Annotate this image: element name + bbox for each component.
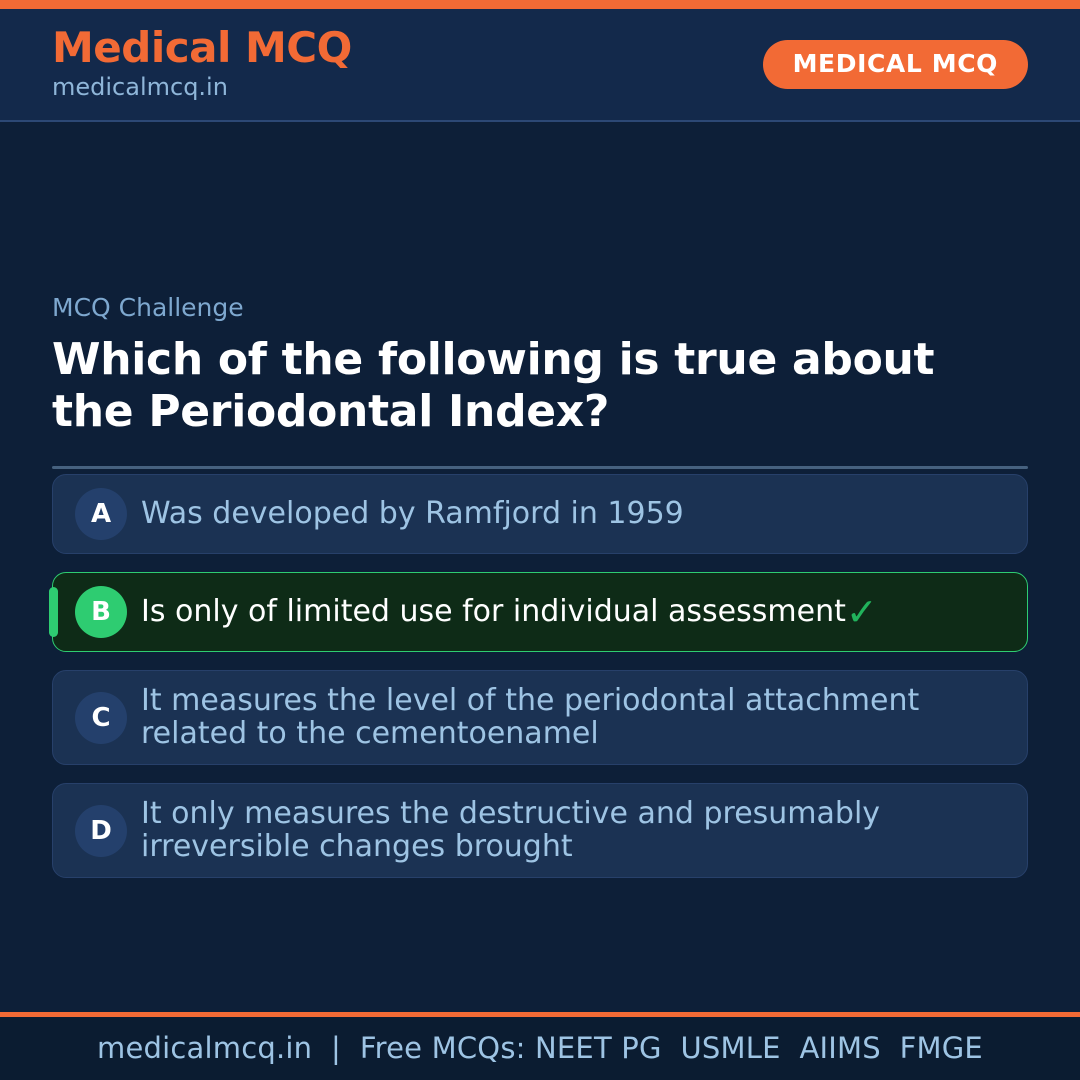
option-d-text: It only measures the destructive and pre… [141,798,1005,863]
option-c-letter: C [75,692,127,744]
options-list: A Was developed by Ramfjord in 1959 B Is… [52,474,1028,896]
option-c-text: It measures the level of the periodontal… [141,685,1005,750]
option-b-text: Is only of limited use for individual as… [141,596,850,628]
option-a[interactable]: A Was developed by Ramfjord in 1959 [52,474,1028,554]
mcq-card-page: Medical MCQ medicalmcq.in MEDICAL MCQ MC… [0,0,1080,1080]
top-accent-rule [0,0,1080,9]
question-divider [52,466,1028,469]
option-d-letter: D [75,805,127,857]
option-d[interactable]: D It only measures the destructive and p… [52,783,1028,878]
header-badge: MEDICAL MCQ [763,40,1028,89]
option-b-letter: B [75,586,127,638]
page-footer: medicalmcq.in | Free MCQs: NEET PG USMLE… [0,1012,1080,1080]
question-block: MCQ Challenge Which of the following is … [52,295,1028,469]
kicker-label: MCQ Challenge [52,295,1028,320]
check-icon: ✓ [846,593,878,631]
option-a-text: Was developed by Ramfjord in 1959 [141,498,688,530]
main-content: MCQ Challenge Which of the following is … [0,122,1080,1012]
brand-block: Medical MCQ medicalmcq.in [52,27,352,103]
footer-text: medicalmcq.in | Free MCQs: NEET PG USMLE… [97,1034,983,1063]
option-c[interactable]: C It measures the level of the periodont… [52,670,1028,765]
option-a-letter: A [75,488,127,540]
option-b[interactable]: B Is only of limited use for individual … [52,572,1028,652]
correct-accent-bar [49,587,58,637]
brand-subtitle: medicalmcq.in [52,72,352,102]
page-header: Medical MCQ medicalmcq.in MEDICAL MCQ [0,9,1080,122]
question-text: Which of the following is true about the… [52,334,1028,438]
brand-title: Medical MCQ [52,27,352,70]
